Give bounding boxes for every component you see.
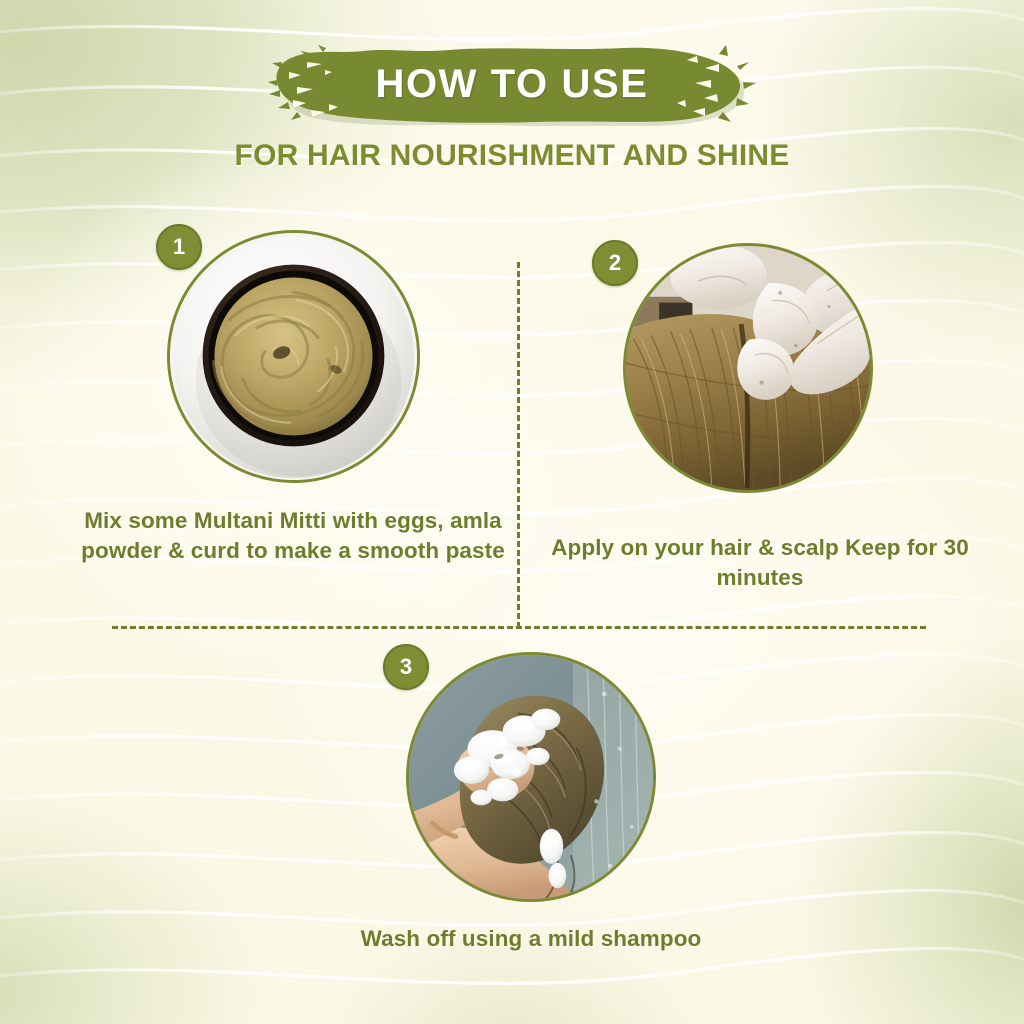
step-3-photo xyxy=(406,652,656,902)
how-to-use-infographic: HOW TO USE FOR HAIR NOURISHMENT AND SHIN… xyxy=(0,0,1024,1024)
vertical-dashed-divider xyxy=(517,262,520,628)
bowl-of-multani-mitti-paste-illustration xyxy=(170,233,417,480)
step-1-caption: Mix some Multani Mitti with eggs, amla p… xyxy=(62,506,524,566)
step-3-number-badge: 3 xyxy=(383,644,429,690)
horizontal-dashed-divider xyxy=(112,626,926,629)
page-title: HOW TO USE xyxy=(375,62,648,107)
step-2-number-badge: 2 xyxy=(592,240,638,286)
step-2-photo xyxy=(623,243,873,493)
step-1-number-badge: 1 xyxy=(156,224,202,270)
page-subtitle: FOR HAIR NOURISHMENT AND SHINE xyxy=(0,139,1024,173)
title-banner: HOW TO USE xyxy=(0,42,1024,126)
woman-washing-hair-with-shampoo-illustration xyxy=(409,655,653,899)
step-3-caption: Wash off using a mild shampoo xyxy=(305,924,757,954)
step-2-caption: Apply on your hair & scalp Keep for 30 m… xyxy=(530,533,990,593)
step-1-photo xyxy=(167,230,420,483)
gloved-hands-applying-paste-to-hair-illustration xyxy=(626,246,870,490)
